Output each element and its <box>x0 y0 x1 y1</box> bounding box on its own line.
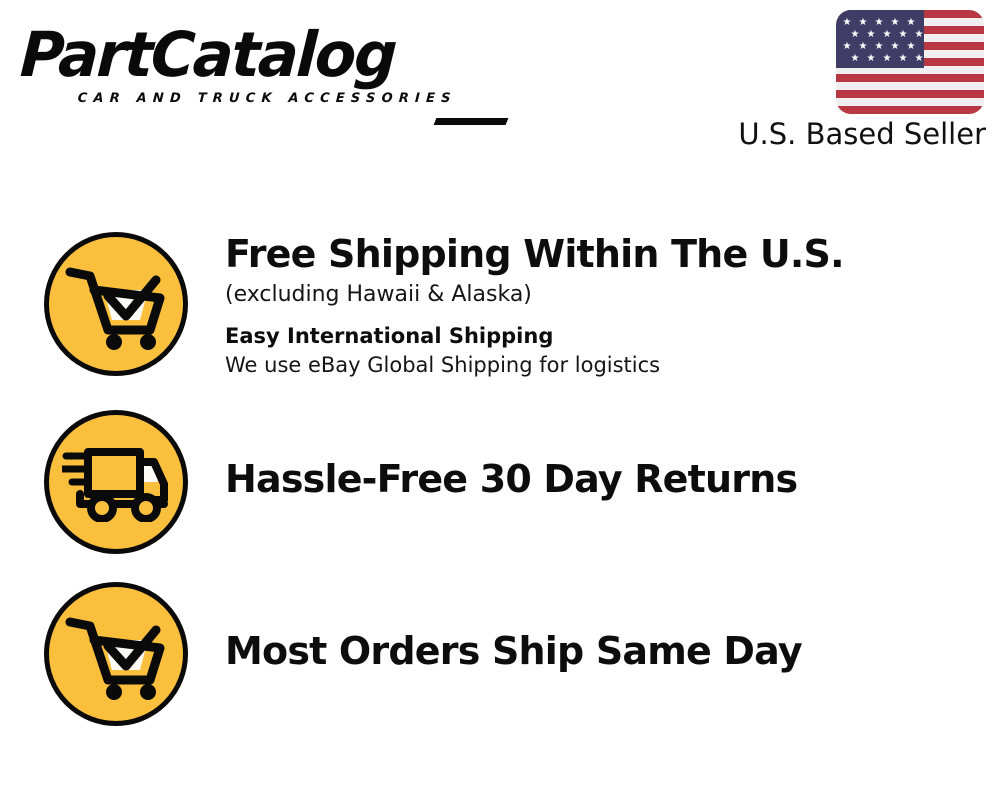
flag-star: ★ <box>882 30 892 40</box>
brand-tagline: CAR AND TRUCK ACCESSORIES <box>77 92 492 106</box>
flag-star: ★ <box>898 30 908 40</box>
flag-star: ★ <box>874 42 884 52</box>
flag-star: ★ <box>858 18 868 28</box>
us-flag-icon: ★ ★ ★ ★ ★ ★ ★ ★ ★ ★ ★ ★ ★ ★ ★ ★ ★ ★ ★ ★ <box>836 10 984 114</box>
flag-star: ★ <box>890 42 900 52</box>
feature-text: Hassle-Free 30 Day Returns <box>225 410 1000 501</box>
flag-stripe <box>836 106 984 114</box>
flag-star: ★ <box>914 54 924 64</box>
feature-sub-detail: We use eBay Global Shipping for logistic… <box>225 351 1000 379</box>
flag-star: ★ <box>890 18 900 28</box>
flag-star: ★ <box>866 30 876 40</box>
flag-star: ★ <box>906 42 916 52</box>
flag-star: ★ <box>898 54 908 64</box>
flag-star: ★ <box>906 18 916 28</box>
brand-wordmark: PartCatalog <box>19 24 478 86</box>
flag-star: ★ <box>914 30 924 40</box>
flag-stripe <box>836 90 984 98</box>
flag-star: ★ <box>858 42 868 52</box>
feature-title: Free Shipping Within The U.S. <box>225 232 1000 276</box>
flag-star: ★ <box>850 54 860 64</box>
flag-star: ★ <box>882 54 892 64</box>
delivery-truck-icon <box>44 410 188 554</box>
feature-text: Free Shipping Within The U.S. (excluding… <box>225 232 1000 379</box>
feature-title: Most Orders Ship Same Day <box>225 629 1000 673</box>
feature-title: Hassle-Free 30 Day Returns <box>225 457 1000 501</box>
feature-text: Most Orders Ship Same Day <box>225 582 1000 673</box>
flag-star: ★ <box>842 42 852 52</box>
header-bar: PartCatalog CAR AND TRUCK ACCESSORIES ★ … <box>0 0 1000 170</box>
flag-stripe <box>836 74 984 82</box>
feature-sub-heading: Easy International Shipping <box>225 322 1000 350</box>
feature-row: Most Orders Ship Same Day <box>0 582 1000 726</box>
flag-star: ★ <box>842 18 852 28</box>
flag-star: ★ <box>850 30 860 40</box>
us-based-seller-badge: ★ ★ ★ ★ ★ ★ ★ ★ ★ ★ ★ ★ ★ ★ ★ ★ ★ ★ ★ ★ <box>716 10 986 150</box>
flag-star: ★ <box>874 18 884 28</box>
feature-row: Hassle-Free 30 Day Returns <box>0 410 1000 554</box>
seller-badge-label: U.S. Based Seller <box>716 118 986 150</box>
feature-row: Free Shipping Within The U.S. (excluding… <box>0 232 1000 379</box>
brand-underline-swoosh <box>434 118 509 125</box>
feature-subtitle: (excluding Hawaii & Alaska) <box>225 279 1000 310</box>
flag-star: ★ <box>866 54 876 64</box>
flag-canton: ★ ★ ★ ★ ★ ★ ★ ★ ★ ★ ★ ★ ★ ★ ★ ★ ★ ★ ★ ★ <box>836 10 924 68</box>
cart-check-icon <box>44 582 188 726</box>
brand-logo[interactable]: PartCatalog CAR AND TRUCK ACCESSORIES <box>22 24 492 116</box>
cart-check-icon <box>44 232 188 376</box>
